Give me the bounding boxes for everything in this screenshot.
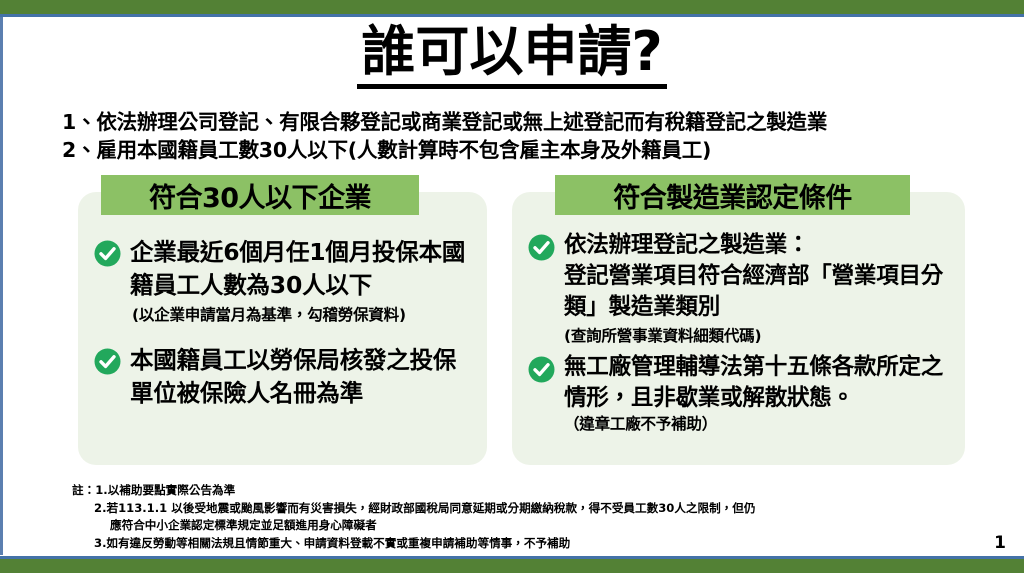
card-small-enterprise: 符合30人以下企業 企業最近6個月任1個月投保本國籍員工人數為30人以下 (以企… <box>78 192 487 465</box>
footnote-text: 以補助要點實際公告為準 <box>108 482 992 500</box>
list-item-note: (以企業申請當月為基準，勾稽勞保資料) <box>130 305 475 326</box>
footnote-continuation: 應符合中小企業認定標準規定並足額進用身心障礙者 <box>72 517 992 535</box>
list-item: 企業最近6個月任1個月投保本國籍員工人數為30人以下 (以企業申請當月為基準，勾… <box>94 236 475 326</box>
footnotes: 註： 1. 以補助要點實際公告為準 2. 若113.1.1 以後受地震或颱風影響… <box>72 482 992 552</box>
check-circle-icon <box>528 356 555 383</box>
intro-block: 1、依法辦理公司登記、有限合夥登記或商業登記或無上述登記而有稅籍登記之製造業 2… <box>62 108 1002 164</box>
list-item-note: (查詢所營事業資料細類代碼) <box>528 326 953 347</box>
check-circle-icon <box>94 240 121 267</box>
page-title: 誰可以申請? <box>0 22 1024 89</box>
intro-line-2: 2、雇用本國籍員工數30人以下(人數計算時不包含雇主本身及外籍員工) <box>62 136 1002 164</box>
footnote-label: 註： <box>72 482 95 500</box>
list-item-text: 企業最近6個月任1個月投保本國籍員工人數為30人以下 <box>130 238 465 299</box>
list-item-text: 無工廠管理輔導法第十五條各款所定之情形，且非歇業或解散狀態。 <box>564 354 943 411</box>
footnote-row: 2. 若113.1.1 以後受地震或颱風影響而有災害損失，經財政部國稅局同意延期… <box>72 500 992 518</box>
footnote-row: 註： 1. 以補助要點實際公告為準 <box>72 482 992 500</box>
footnote-text: 若113.1.1 以後受地震或颱風影響而有災害損失，經財政部國稅局同意延期或分期… <box>106 500 992 518</box>
card-header-label: 符合30人以下企業 <box>149 176 371 215</box>
page-number: 1 <box>994 533 1006 553</box>
slide-root: 誰可以申請? 1、依法辦理公司登記、有限合夥登記或商業登記或無上述登記而有稅籍登… <box>0 0 1024 573</box>
top-blue-rule <box>0 14 1024 17</box>
check-circle-icon <box>94 348 121 375</box>
card-header-small-enterprise: 符合30人以下企業 <box>101 175 419 215</box>
list-item-text: 依法辦理登記之製造業： <box>564 230 953 261</box>
top-green-band <box>0 0 1024 14</box>
footnote-row: 3. 如有違反勞動等相關法規且情節重大、申請資料登載不實或重複申請補助等情事，不… <box>72 535 992 553</box>
criteria-cards: 符合30人以下企業 企業最近6個月任1個月投保本國籍員工人數為30人以下 (以企… <box>0 192 1024 472</box>
list-item-body: 依法辦理登記之製造業： <box>564 230 953 261</box>
card-body-small-enterprise: 企業最近6個月任1個月投保本國籍員工人數為30人以下 (以企業申請當月為基準，勾… <box>78 236 487 412</box>
card-header-manufacturing-criteria: 符合製造業認定條件 <box>555 175 910 215</box>
list-item-body: 本國籍員工以勞保局核發之投保單位被保險人名冊為準 <box>130 344 475 411</box>
card-manufacturing-criteria: 符合製造業認定條件 依法辦理登記之製造業： 登記營業項目符合經濟部「營業項目分類… <box>512 192 965 465</box>
list-item: 本國籍員工以勞保局核發之投保單位被保險人名冊為準 <box>94 344 475 411</box>
intro-line-1: 1、依法辦理公司登記、有限合夥登記或商業登記或無上述登記而有稅籍登記之製造業 <box>62 108 1002 136</box>
list-item-note: （違章工廠不予補助） <box>564 414 953 435</box>
bottom-green-band <box>0 559 1024 573</box>
page-title-text: 誰可以申請? <box>357 22 666 89</box>
footnote-number: 1. <box>95 482 107 500</box>
card-body-manufacturing-criteria: 依法辦理登記之製造業： 登記營業項目符合經濟部「營業項目分類」製造業類別 (查詢… <box>512 230 965 435</box>
footnote-number: 2. <box>94 500 106 518</box>
list-item-subtext: 登記營業項目符合經濟部「營業項目分類」製造業類別 <box>528 261 953 323</box>
card-header-label: 符合製造業認定條件 <box>613 176 852 215</box>
list-item-body: 無工廠管理輔導法第十五條各款所定之情形，且非歇業或解散狀態。 （違章工廠不予補助… <box>564 352 953 435</box>
list-item: 無工廠管理輔導法第十五條各款所定之情形，且非歇業或解散狀態。 （違章工廠不予補助… <box>528 352 953 435</box>
list-item: 依法辦理登記之製造業： <box>528 230 953 261</box>
list-item-text: 本國籍員工以勞保局核發之投保單位被保險人名冊為準 <box>130 346 456 407</box>
check-circle-icon <box>528 234 555 261</box>
list-item-body: 企業最近6個月任1個月投保本國籍員工人數為30人以下 (以企業申請當月為基準，勾… <box>130 236 475 326</box>
footnote-number: 3. <box>94 535 106 553</box>
footnote-text: 如有違反勞動等相關法規且情節重大、申請資料登載不實或重複申請補助等情事，不予補助 <box>106 535 992 553</box>
